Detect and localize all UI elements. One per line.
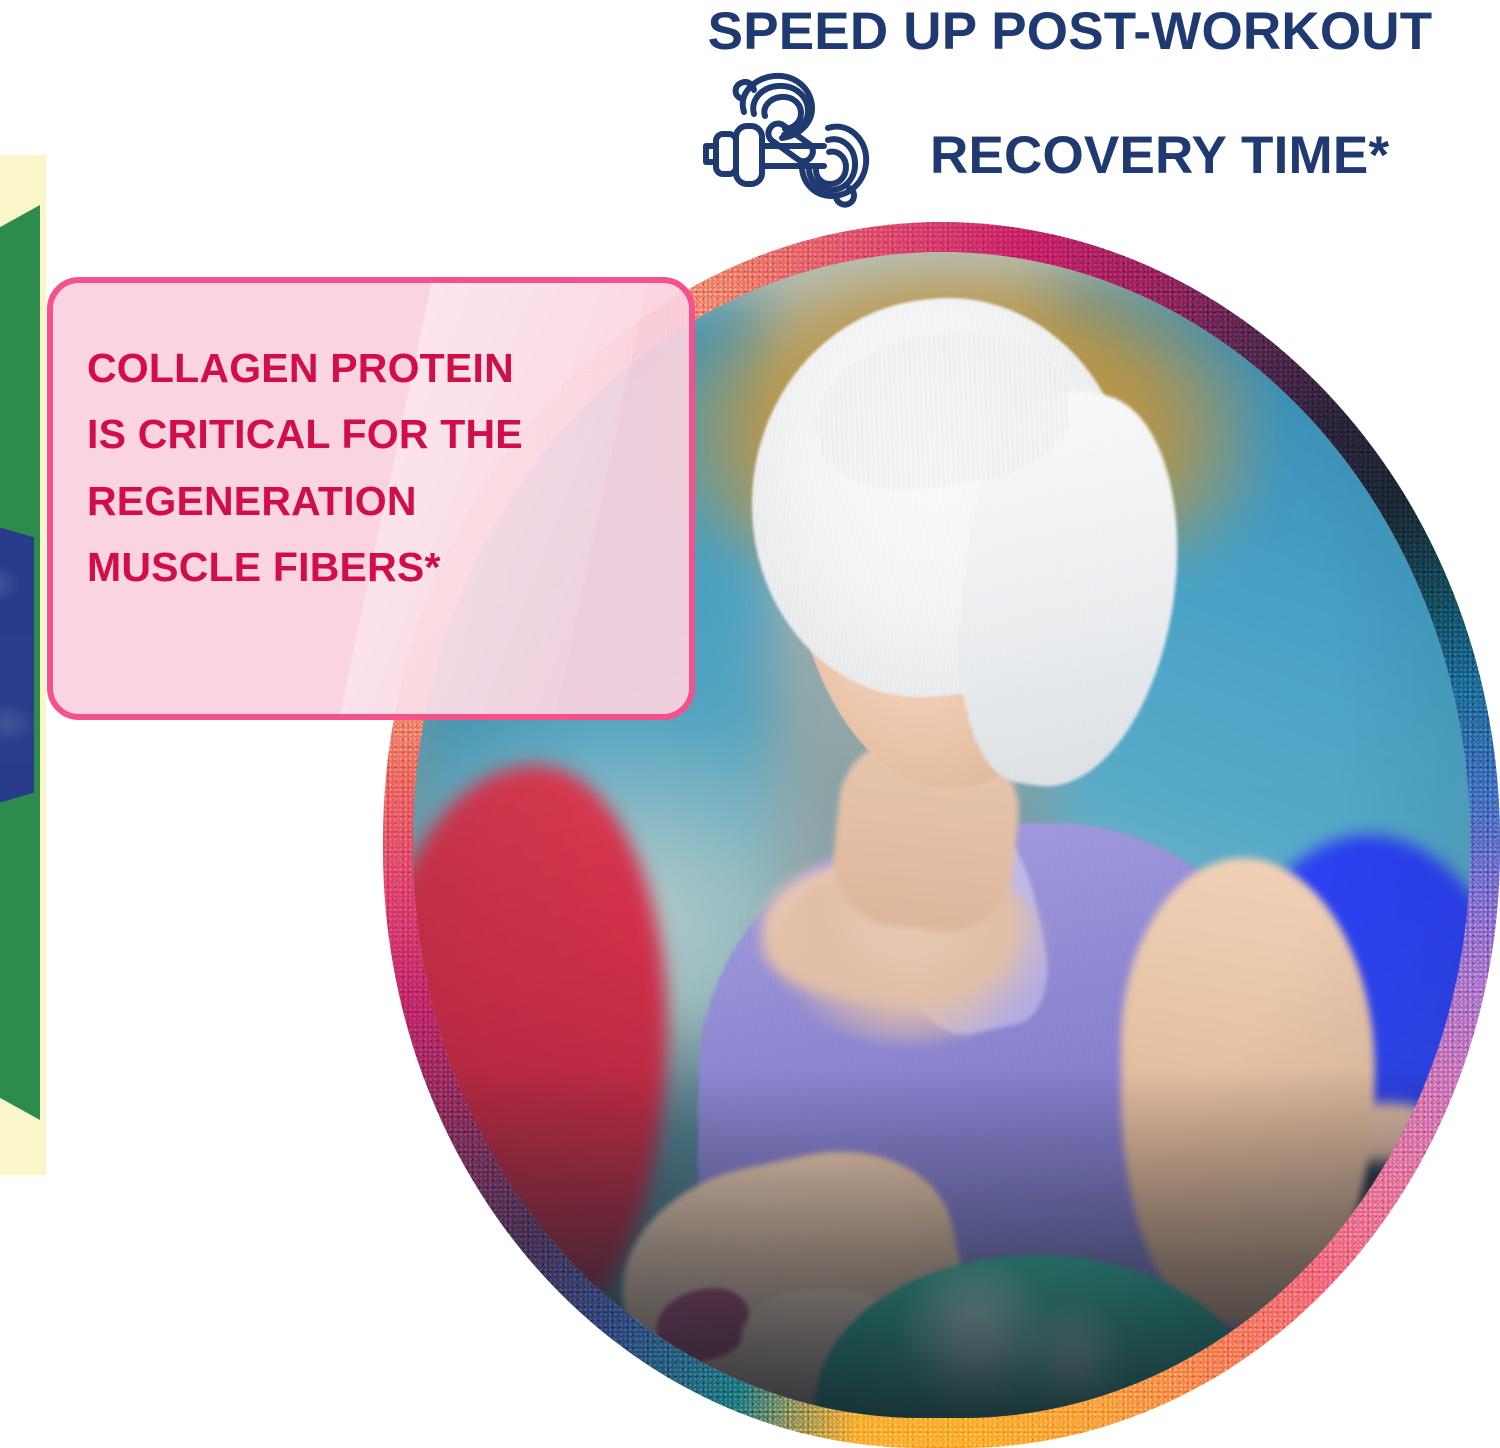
callout-text: COLLAGEN PROTEIN IS CRITICAL FOR THE REG… <box>53 283 689 601</box>
callout-line-1: COLLAGEN PROTEIN <box>87 335 655 401</box>
photo-bottom-shade <box>413 1068 1470 1418</box>
promo-banner: SPEED UP POST-WORKOUT <box>0 0 1500 1448</box>
callout-box: COLLAGEN PROTEIN IS CRITICAL FOR THE REG… <box>47 277 695 720</box>
dumbbell-icon <box>700 68 880 220</box>
left-edge-decoration <box>0 0 60 1448</box>
headline-line-2: RECOVERY TIME* <box>930 128 1389 183</box>
callout-line-2: IS CRITICAL FOR THE <box>87 401 655 467</box>
headline-line-1: SPEED UP POST-WORKOUT <box>640 4 1500 59</box>
callout-line-4: MUSCLE FIBERS* <box>87 534 655 600</box>
edge-navy-shape <box>0 520 34 810</box>
callout-line-3: REGENERATION <box>87 468 655 534</box>
